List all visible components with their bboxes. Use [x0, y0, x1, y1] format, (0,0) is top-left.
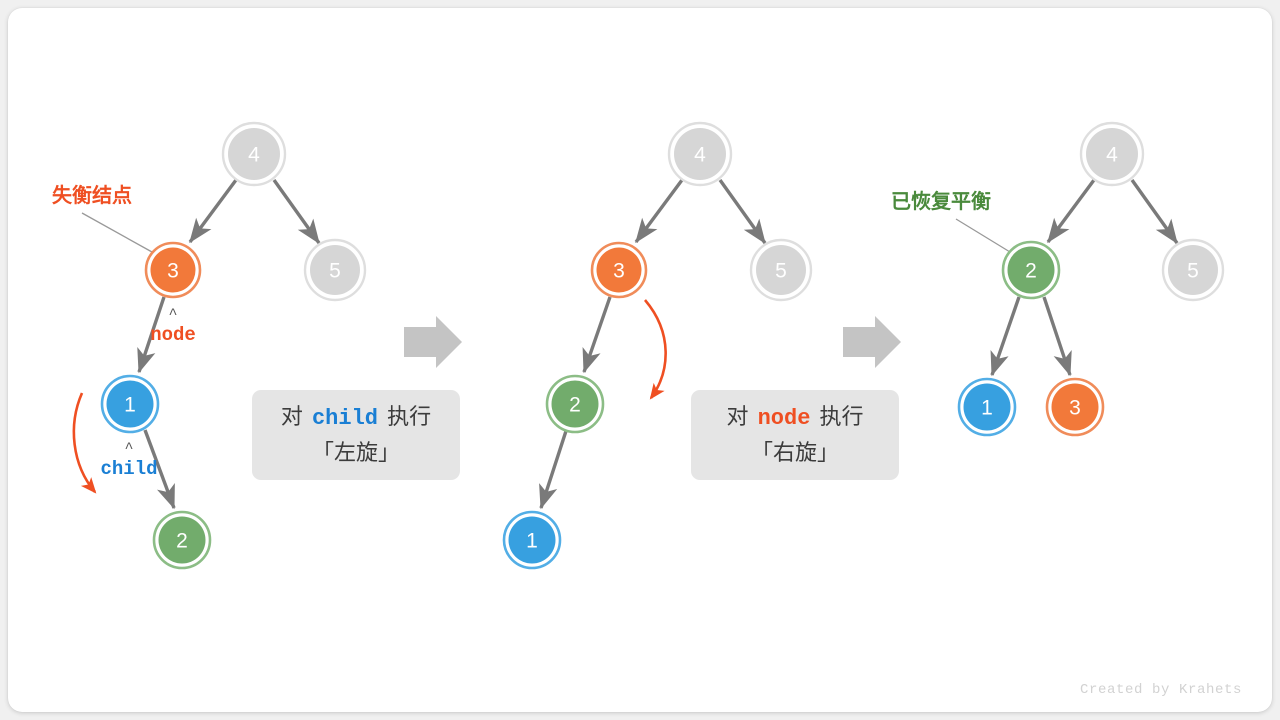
step-arrow-2: [843, 316, 901, 368]
node-3: 3: [1047, 379, 1103, 435]
credit-text: Created by Krahets: [1080, 682, 1242, 698]
node-value: 1: [526, 530, 538, 553]
node-value: 4: [1106, 144, 1118, 167]
callout-line-1: 对 node 执行: [726, 400, 863, 436]
edge-4-5: [1132, 180, 1177, 243]
unbalanced-node-annotation: 失衡结点: [52, 179, 132, 208]
node-value: 3: [613, 260, 625, 283]
node-1-child: 1: [102, 376, 158, 432]
leader-line-rebalanced: [956, 219, 1010, 252]
diagram-svg: 4 5 3 1 2 ^ n: [0, 0, 1280, 720]
child-caret-icon: ^: [124, 440, 133, 457]
edge-4-5: [720, 180, 765, 243]
right-rotation-arrow: [645, 300, 666, 398]
node-5: 5: [1163, 240, 1223, 300]
node-2-grandchild: 2: [154, 512, 210, 568]
node-4: 4: [223, 123, 285, 185]
edge-3-2: [584, 297, 610, 372]
edge-4-5: [274, 180, 319, 243]
node-value: 4: [248, 144, 260, 167]
node-1: 1: [504, 512, 560, 568]
figure-canvas: 4 5 3 1 2 ^ n: [0, 0, 1280, 720]
node-value: 2: [176, 530, 188, 553]
node-4: 4: [1081, 123, 1143, 185]
callout-line-2: 「左旋」: [312, 436, 400, 470]
callout-prefix: 对: [726, 404, 748, 429]
leader-line-unbalanced: [82, 213, 152, 252]
node-value: 1: [981, 397, 993, 420]
node-4: 4: [669, 123, 731, 185]
callout-suffix: 执行: [820, 404, 864, 429]
tree-middle: 4 5 3 2 1: [504, 123, 811, 568]
right-rotate-callout: 对 node 执行 「右旋」: [691, 390, 899, 480]
node-value: 5: [1187, 260, 1199, 283]
edge-4-3: [636, 180, 682, 242]
right-arrow-icon: [404, 316, 462, 368]
callout-prefix: 对: [281, 404, 303, 429]
node-3-unbalanced: 3: [146, 243, 200, 297]
node-3-unbalanced: 3: [592, 243, 646, 297]
edge-2-1: [992, 297, 1019, 375]
callout-line-1: 对 child 执行: [281, 400, 431, 436]
rebalanced-annotation: 已恢复平衡: [891, 185, 991, 214]
node-5: 5: [305, 240, 365, 300]
edge-4-2: [1048, 180, 1094, 242]
callout-code-child: child: [309, 406, 381, 431]
node-1: 1: [959, 379, 1015, 435]
left-rotation-arrow: [74, 393, 95, 492]
node-5: 5: [751, 240, 811, 300]
node-value: 5: [329, 260, 341, 283]
left-rotate-callout: 对 child 执行 「左旋」: [252, 390, 460, 480]
node-value: 3: [167, 260, 179, 283]
node-value: 1: [124, 394, 136, 417]
edge-4-3: [190, 180, 236, 242]
callout-code-node: node: [755, 406, 814, 431]
node-2-balanced: 2: [1003, 242, 1059, 298]
node-2: 2: [547, 376, 603, 432]
node-code-label: node: [150, 324, 196, 346]
callout-line-2: 「右旋」: [751, 436, 839, 470]
node-value: 2: [569, 394, 581, 417]
node-value: 4: [694, 144, 706, 167]
child-code-label: child: [100, 458, 157, 480]
right-arrow-icon: [843, 316, 901, 368]
node-value: 3: [1069, 397, 1081, 420]
node-value: 5: [775, 260, 787, 283]
callout-suffix: 执行: [387, 404, 431, 429]
edge-2-1: [541, 431, 566, 508]
tree-after: 4 5 2 1 3: [956, 123, 1223, 435]
edge-2-3: [1044, 297, 1070, 375]
node-value: 2: [1025, 260, 1037, 283]
step-arrow-1: [404, 316, 462, 368]
node-caret-icon: ^: [168, 306, 177, 323]
